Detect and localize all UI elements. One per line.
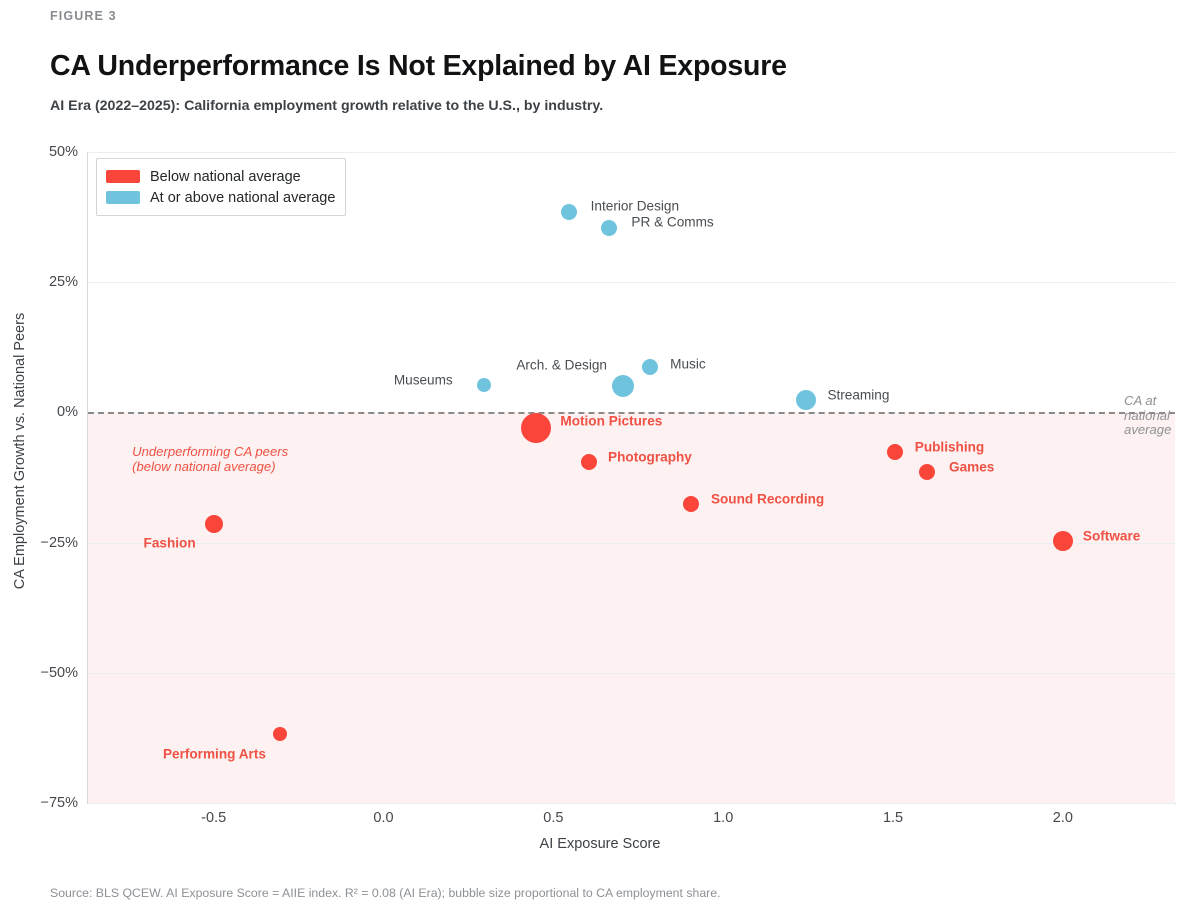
gridline-horizontal — [88, 282, 1175, 283]
gridline-horizontal — [88, 152, 1175, 153]
data-point-bubble[interactable] — [642, 359, 658, 375]
figure-container: FIGURE 3 CA Underperformance Is Not Expl… — [0, 0, 1200, 913]
data-point-label: Music — [670, 357, 706, 372]
legend-label-below: Below national average — [150, 169, 301, 185]
data-point-label: Streaming — [827, 388, 889, 403]
data-point-label: Fashion — [144, 536, 196, 551]
data-point-label: Performing Arts — [163, 746, 266, 761]
y-axis-tick-label: −75% — [41, 795, 79, 811]
y-axis-tick-label: −50% — [41, 665, 79, 681]
data-point-bubble[interactable] — [683, 496, 699, 512]
data-point-label: PR & Comms — [631, 215, 713, 230]
figure-title: CA Underperformance Is Not Explained by … — [50, 50, 787, 83]
ca-at-national-average-note: CA at national average — [1124, 394, 1175, 438]
data-point-bubble[interactable] — [612, 375, 634, 397]
y-axis-tick-label: 25% — [49, 274, 78, 290]
data-point-bubble[interactable] — [796, 390, 816, 410]
figure-source: Source: BLS QCEW. AI Exposure Score = AI… — [50, 886, 721, 900]
y-axis-tick-label: −25% — [41, 535, 79, 551]
legend-label-above: At or above national average — [150, 190, 335, 206]
data-point-label: Photography — [608, 449, 692, 464]
data-point-label: Arch. & Design — [516, 358, 607, 373]
data-point-bubble[interactable] — [887, 444, 903, 460]
data-point-bubble[interactable] — [581, 454, 597, 470]
gridline-horizontal — [88, 803, 1175, 804]
legend-swatch-above — [106, 191, 140, 204]
plot-area: Interior DesignPR & CommsMuseumsArch. & … — [88, 152, 1175, 803]
legend-item[interactable]: At or above national average — [106, 187, 335, 208]
data-point-bubble[interactable] — [601, 220, 617, 236]
x-axis-tick-label: 2.0 — [1053, 810, 1073, 826]
data-point-label: Motion Pictures — [560, 414, 662, 429]
data-point-bubble[interactable] — [1053, 531, 1073, 551]
gridline-horizontal — [88, 543, 1175, 544]
y-axis-tick-label: 50% — [49, 144, 78, 160]
x-axis-tick-label: 1.0 — [713, 810, 733, 826]
x-axis-tick-label: 0.0 — [373, 810, 393, 826]
figure-kicker: FIGURE 3 — [50, 9, 117, 23]
underperforming-note: Underperforming CA peers (below national… — [132, 445, 288, 474]
legend-swatch-below — [106, 170, 140, 183]
gridline-horizontal — [88, 673, 1175, 674]
data-point-label: Museums — [394, 373, 453, 388]
data-point-bubble[interactable] — [919, 464, 935, 480]
data-point-bubble[interactable] — [561, 204, 577, 220]
data-point-bubble[interactable] — [273, 727, 287, 741]
data-point-bubble[interactable] — [521, 413, 551, 443]
data-point-label: Software — [1083, 528, 1140, 543]
y-axis-title: CA Employment Growth vs. National Peers — [12, 131, 28, 771]
data-point-label: Interior Design — [591, 198, 679, 213]
data-point-bubble[interactable] — [205, 515, 223, 533]
x-axis-tick-label: 0.5 — [543, 810, 563, 826]
x-axis-tick-label: -0.5 — [201, 810, 226, 826]
x-axis-title: AI Exposure Score — [0, 836, 1200, 852]
data-point-label: Sound Recording — [711, 491, 824, 506]
data-point-label: Games — [949, 460, 994, 475]
legend: Below national average At or above natio… — [96, 158, 346, 216]
y-axis-tick-label: 0% — [57, 404, 78, 420]
figure-subtitle: AI Era (2022–2025): California employmen… — [50, 98, 603, 114]
data-point-label: Publishing — [915, 439, 984, 454]
data-point-bubble[interactable] — [477, 378, 491, 392]
legend-item[interactable]: Below national average — [106, 166, 335, 187]
x-axis-tick-label: 1.5 — [883, 810, 903, 826]
